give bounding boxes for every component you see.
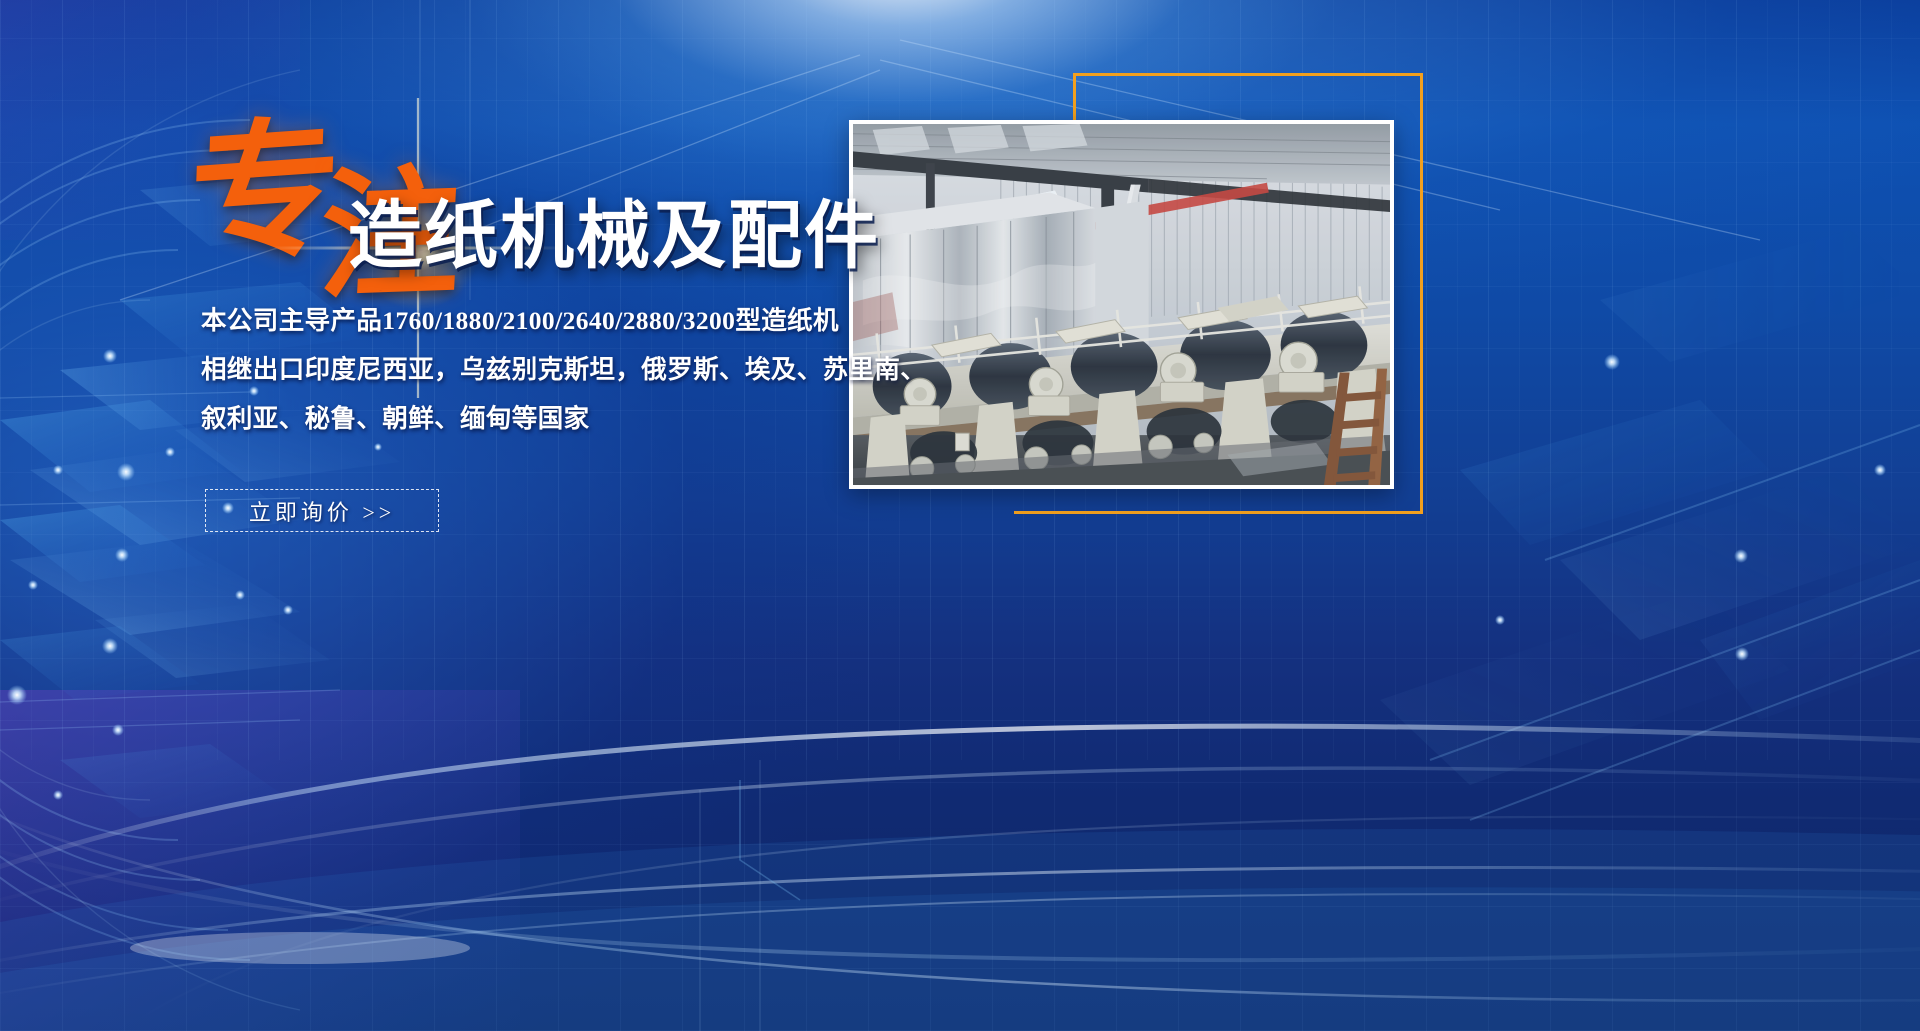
hero-banner: 专 注 造纸机械及配件 本公司主导产品1760/1880/2100/2640/2… bbox=[0, 0, 1920, 1031]
headline-rest: 造纸机械及配件 bbox=[348, 176, 880, 283]
description: 本公司主导产品1760/1880/2100/2640/2880/3200型造纸机… bbox=[201, 296, 841, 443]
description-line-2: 相继出口印度尼西亚，乌兹别克斯坦，俄罗斯、埃及、苏里南、 bbox=[201, 345, 841, 394]
description-line-3: 叙利亚、秘鲁、朝鲜、缅甸等国家 bbox=[201, 394, 841, 443]
description-line-1: 本公司主导产品1760/1880/2100/2640/2880/3200型造纸机 bbox=[201, 296, 841, 345]
inquiry-button[interactable]: 立即询价 >> bbox=[205, 489, 439, 532]
inquiry-button-label: 立即询价 >> bbox=[249, 495, 395, 527]
banner-content: 专 注 造纸机械及配件 本公司主导产品1760/1880/2100/2640/2… bbox=[0, 0, 1920, 1031]
